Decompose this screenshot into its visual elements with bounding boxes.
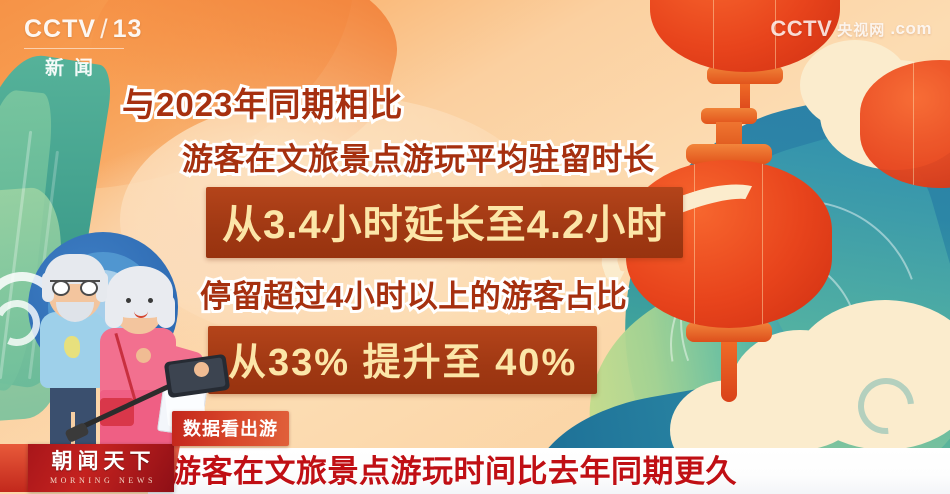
channel-subtitle: 新闻 xyxy=(24,48,124,80)
channel-slash: / xyxy=(100,14,109,45)
watermark-cn: 央视网 xyxy=(837,19,885,40)
channel-number: 13 xyxy=(113,15,143,44)
topic-badge: 数据看出游 xyxy=(172,411,289,446)
news-headline: 游客在文旅景点游玩时间比去年同期更久 xyxy=(170,446,737,491)
program-name-cn: 朝闻天下 xyxy=(47,451,156,473)
program-logo: 朝闻天下 MORNING NEWS xyxy=(28,444,174,492)
broadcast-screenshot: CCTV / 13 新闻 CCTV 央视网 .com 与2023年同期相比 游客… xyxy=(0,0,950,494)
watermark-com: .com xyxy=(890,19,932,39)
info-line-4: 停留超过4小时以上的游客占比 xyxy=(200,271,700,316)
cctv-com-watermark: CCTV 央视网 .com xyxy=(770,16,932,42)
highlight-stat-duration: 从3.4小时延长至4.2小时 xyxy=(206,187,683,258)
program-name-en: MORNING NEWS xyxy=(46,476,156,485)
info-line-2: 游客在文旅景点游玩平均驻留时长 xyxy=(182,134,700,179)
highlight-stat-share: 从33% 提升至 40% xyxy=(208,326,597,394)
watermark-brand: CCTV xyxy=(770,16,832,42)
cloud-swirl-icon xyxy=(847,367,926,446)
lantern-icon-right xyxy=(860,60,950,188)
info-line-1: 与2023年同期相比 xyxy=(122,78,700,126)
channel-logo: CCTV / 13 新闻 xyxy=(24,14,142,80)
lower-third-banner: 数据看出游 游客在文旅景点游玩时间比去年同期更久 朝闻天下 MORNING NE… xyxy=(0,442,950,494)
channel-brand: CCTV xyxy=(24,15,96,44)
